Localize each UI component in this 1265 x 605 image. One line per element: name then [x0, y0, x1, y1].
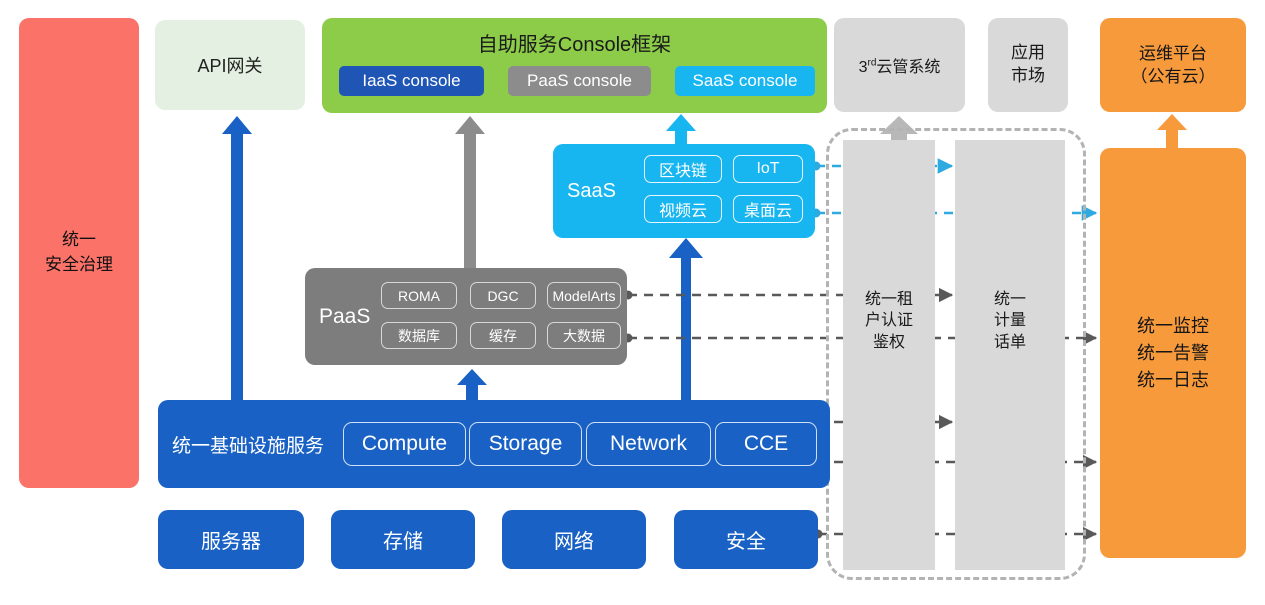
- ops-platform-public-cloud-box[interactable]: 运维平台 （公有云）: [1100, 18, 1246, 112]
- paas-chip-database[interactable]: 数据库: [381, 322, 457, 349]
- paas-layer-box[interactable]: PaaS ROMA DGC ModelArts 数据库 缓存 大数据: [305, 268, 627, 365]
- arrow-infra-to-saas: [669, 238, 703, 400]
- saas-chip-video-cloud[interactable]: 视频云: [644, 195, 722, 223]
- billing-line-3: 话单: [994, 332, 1026, 354]
- self-service-console-framework[interactable]: 自助服务Console框架 IaaS console PaaS console …: [322, 18, 827, 113]
- infra-chip-compute[interactable]: Compute: [343, 422, 466, 466]
- third-cloud-label: 3rd云管系统: [859, 53, 941, 77]
- arrow-saas-to-console: [666, 114, 696, 144]
- paas-chip-cache[interactable]: 缓存: [470, 322, 536, 349]
- arrow-infra-to-apigateway: [222, 116, 252, 400]
- paas-chip-bigdata[interactable]: 大数据: [547, 322, 621, 349]
- saas-console-chip[interactable]: SaaS console: [675, 66, 815, 96]
- resource-box-storage[interactable]: 存储: [331, 510, 475, 569]
- app-market-line-2: 市场: [1011, 65, 1045, 88]
- billing-line-1: 统一: [994, 289, 1026, 311]
- unified-monitoring-alarm-log-panel[interactable]: 统一监控 统一告警 统一日志: [1100, 148, 1246, 558]
- third-cloud-suffix: 云管系统: [876, 59, 940, 76]
- arrow-paas-to-console: [455, 116, 485, 268]
- paas-chip-dgc[interactable]: DGC: [470, 282, 536, 309]
- console-framework-title: 自助服务Console框架: [322, 28, 827, 57]
- api-gateway-label: API网关: [197, 52, 262, 78]
- saas-chip-desktop-cloud[interactable]: 桌面云: [733, 195, 803, 223]
- resource-box-network[interactable]: 网络: [502, 510, 646, 569]
- ops-core-line-3: 统一日志: [1137, 367, 1209, 394]
- iaas-console-chip[interactable]: IaaS console: [339, 66, 484, 96]
- ops-core-line-2: 统一告警: [1137, 340, 1209, 367]
- architecture-diagram: 统一租 户认证 鉴权 统一 计量 话单 统一 安全治理 API网关 自助服务Co…: [0, 0, 1265, 605]
- infra-chip-network[interactable]: Network: [586, 422, 711, 466]
- saas-layer-box[interactable]: SaaS 区块链 IoT 视频云 桌面云: [553, 144, 815, 238]
- unified-infrastructure-service-bar[interactable]: 统一基础设施服务 Compute Storage Network CCE: [158, 400, 830, 488]
- api-gateway-box[interactable]: API网关: [155, 20, 305, 110]
- infra-bar-label: 统一基础设施服务: [172, 400, 324, 488]
- saas-layer-label: SaaS: [567, 144, 616, 238]
- app-market-line-1: 应用: [1011, 42, 1045, 65]
- infra-chip-cce[interactable]: CCE: [715, 422, 817, 466]
- infra-chip-storage[interactable]: Storage: [469, 422, 582, 466]
- auth-line-2: 户认证: [865, 310, 913, 332]
- ops-platform-line-1: 运维平台: [1131, 42, 1216, 65]
- column-billing-label: 统一 计量 话单: [955, 278, 1065, 364]
- auth-line-3: 鉴权: [865, 332, 913, 354]
- third-party-cloud-management-box[interactable]: 3rd云管系统: [834, 18, 965, 112]
- paas-console-chip[interactable]: PaaS console: [508, 66, 651, 96]
- paas-chip-roma[interactable]: ROMA: [381, 282, 457, 309]
- ops-core-line-1: 统一监控: [1137, 313, 1209, 340]
- unified-security-governance-panel[interactable]: 统一 安全治理: [19, 18, 139, 488]
- resource-box-server[interactable]: 服务器: [158, 510, 304, 569]
- resource-box-security[interactable]: 安全: [674, 510, 818, 569]
- paas-layer-label: PaaS: [319, 268, 370, 365]
- ops-platform-line-2: （公有云）: [1131, 65, 1216, 88]
- arrow-infra-to-paas: [457, 369, 487, 400]
- arrow-opscore-to-opsplatform: [1157, 114, 1187, 148]
- saas-chip-blockchain[interactable]: 区块链: [644, 155, 722, 183]
- billing-line-2: 计量: [994, 310, 1026, 332]
- app-market-box[interactable]: 应用 市场: [988, 18, 1068, 112]
- paas-chip-modelarts[interactable]: ModelArts: [547, 282, 621, 309]
- saas-chip-iot[interactable]: IoT: [733, 155, 803, 183]
- security-line-2: 安全治理: [45, 253, 113, 278]
- auth-line-1: 统一租: [865, 289, 913, 311]
- column-auth-label: 统一租 户认证 鉴权: [843, 278, 935, 364]
- security-line-1: 统一: [45, 228, 113, 253]
